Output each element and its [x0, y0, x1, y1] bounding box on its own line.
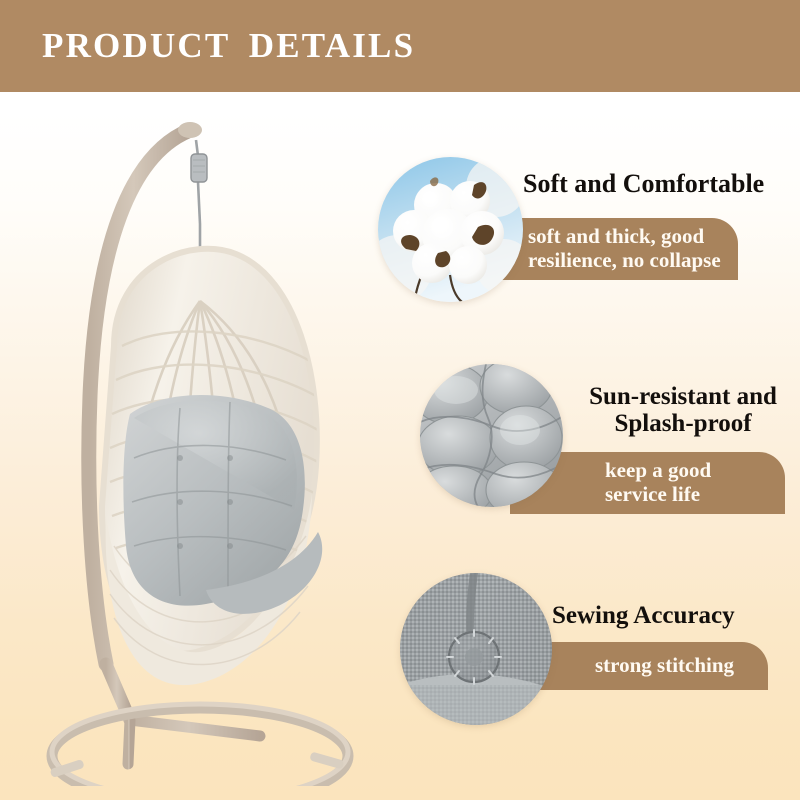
stitching-closeup-illustration: [400, 573, 552, 725]
product-image: [10, 96, 390, 786]
product-details-page: PRODUCT DETAILS: [0, 0, 800, 800]
feature-3-heading: Sewing Accuracy: [552, 602, 735, 629]
feature-2-heading: Sun-resistant and Splash-proof: [578, 383, 788, 437]
feature-2-heading-line1: Sun-resistant and: [578, 383, 788, 410]
feature-2-heading-line2: Splash-proof: [578, 410, 788, 437]
tufted-cushion-illustration: [420, 364, 563, 507]
page-title: PRODUCT DETAILS: [42, 26, 415, 66]
feature-1-heading: Soft and Comfortable: [523, 170, 764, 198]
hanging-egg-chair-illustration: [10, 96, 390, 786]
fabric-stitching-closeup-photo: [400, 573, 552, 725]
cotton-bolls-photo: [378, 157, 523, 302]
header-banner: PRODUCT DETAILS: [0, 0, 800, 92]
cotton-bolls-illustration: [378, 157, 523, 302]
gray-tufted-cushion-photo: [420, 364, 563, 507]
